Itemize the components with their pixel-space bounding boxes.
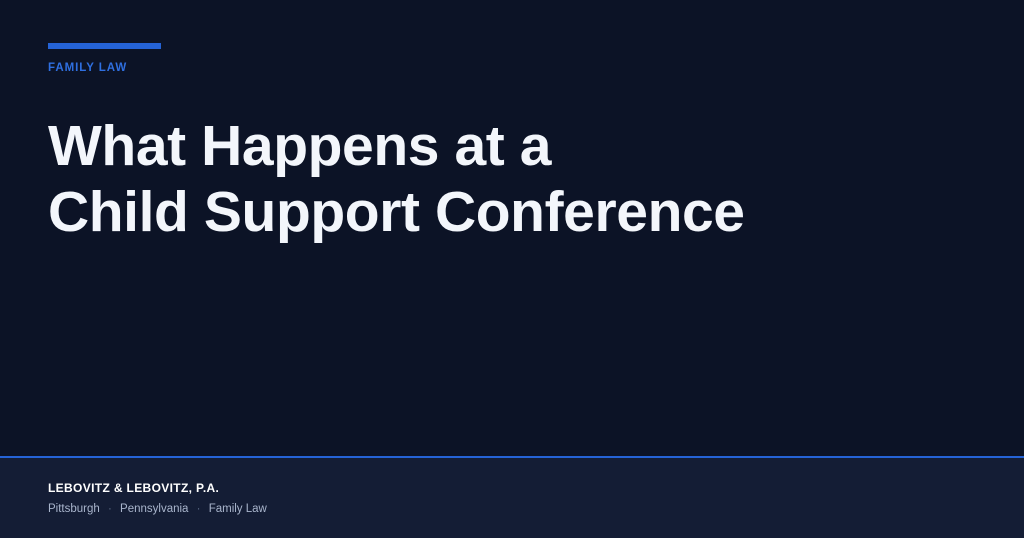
firm-meta: Pittsburgh · Pennsylvania · Family Law (48, 502, 976, 516)
firm-meta-separator-1: · (103, 503, 117, 515)
firm-name: LEBOVITZ & LEBOVITZ, P.A. (48, 481, 976, 495)
page-title-line-2: Child Support Conference (48, 179, 908, 245)
page-title: What Happens at a Child Support Conferen… (48, 113, 908, 245)
title-slide: FAMILY LAW What Happens at a Child Suppo… (0, 0, 1024, 538)
firm-meta-state: Pennsylvania (120, 503, 188, 515)
firm-meta-separator-2: · (192, 503, 206, 515)
slide-footer: LEBOVITZ & LEBOVITZ, P.A. Pittsburgh · P… (0, 456, 1024, 538)
slide-main-content: FAMILY LAW What Happens at a Child Suppo… (0, 0, 1024, 456)
firm-meta-city: Pittsburgh (48, 503, 100, 515)
practice-area-eyebrow: FAMILY LAW (48, 62, 976, 74)
accent-bar-icon (48, 43, 161, 49)
page-title-line-1: What Happens at a (48, 113, 908, 179)
firm-meta-practice-area: Family Law (209, 503, 267, 515)
eyebrow-block: FAMILY LAW (48, 43, 976, 74)
